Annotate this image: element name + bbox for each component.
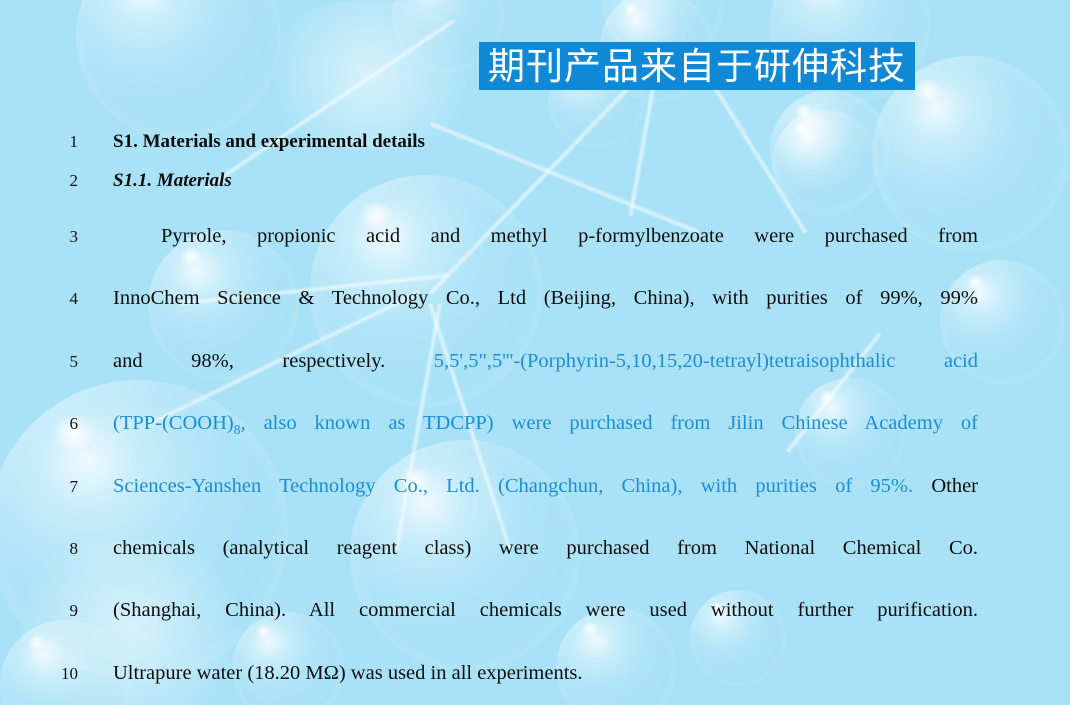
line-number: 3 (0, 227, 78, 247)
line-number: 9 (0, 601, 78, 621)
paragraph-segment-black: Other (931, 475, 978, 497)
paragraph-segment-highlight: Sciences-Yanshen Technology Co., Ltd. (C… (113, 475, 913, 497)
text-line: 7 Sciences-Yanshen Technology Co., Ltd. … (0, 475, 1070, 498)
subsection-heading: S1.1. Materials (113, 170, 978, 192)
title-banner: 期刊产品来自于研伸科技 (479, 42, 915, 90)
text-line: 2 S1.1. Materials (0, 170, 1070, 192)
text-line: 3 Pyrrole, propionic acid and methyl p-f… (0, 225, 1070, 248)
line-number: 8 (0, 539, 78, 559)
paragraph-line: (Shanghai, China). All commercial chemic… (113, 599, 978, 622)
paragraph-line: Ultrapure water (18.20 MΩ) was used in a… (113, 662, 978, 685)
paragraph-line: Sciences-Yanshen Technology Co., Ltd. (C… (113, 475, 978, 498)
paragraph-line: InnoChem Science & Technology Co., Ltd (… (113, 287, 978, 310)
line-number: 2 (0, 171, 78, 191)
paragraph-line: (TPP-(COOH)8, also known as TDCPP) were … (113, 412, 978, 438)
paragraph-segment-highlight: 5,5',5",5'''-(Porphyrin-5,10,15,20-tetra… (434, 350, 978, 372)
paragraph-line: and 98%, respectively. 5,5',5",5'''-(Por… (113, 350, 978, 373)
line-number: 4 (0, 289, 78, 309)
line-number: 10 (0, 664, 78, 684)
title-banner-text: 期刊产品来自于研伸科技 (488, 48, 906, 85)
paragraph-line: Pyrrole, propionic acid and methyl p-for… (113, 225, 978, 248)
page-root: 期刊产品来自于研伸科技 1 S1. Materials and experime… (0, 0, 1070, 705)
paragraph-line: chemicals (analytical reagent class) wer… (113, 537, 978, 560)
paragraph-segment-black: and 98%, respectively. (113, 350, 385, 372)
line-number: 6 (0, 414, 78, 434)
line-number: 5 (0, 352, 78, 372)
text-line: 9 (Shanghai, China). All commercial chem… (0, 599, 1070, 622)
text-line: 6 (TPP-(COOH)8, also known as TDCPP) wer… (0, 412, 1070, 438)
text-line: 4 InnoChem Science & Technology Co., Ltd… (0, 287, 1070, 310)
section-heading: S1. Materials and experimental details (113, 131, 978, 153)
text-line: 5 and 98%, respectively. 5,5',5",5'''-(P… (0, 350, 1070, 373)
document-body: 1 S1. Materials and experimental details… (0, 0, 1070, 705)
line-number: 1 (0, 132, 78, 152)
paragraph-segment-highlight: , also known as TDCPP) were purchased fr… (240, 412, 978, 434)
text-line: 1 S1. Materials and experimental details (0, 131, 1070, 153)
text-line: 10 Ultrapure water (18.20 MΩ) was used i… (0, 662, 1070, 685)
paragraph-segment-highlight: (TPP-(COOH) (113, 412, 234, 434)
text-line: 8 chemicals (analytical reagent class) w… (0, 537, 1070, 560)
line-number: 7 (0, 477, 78, 497)
